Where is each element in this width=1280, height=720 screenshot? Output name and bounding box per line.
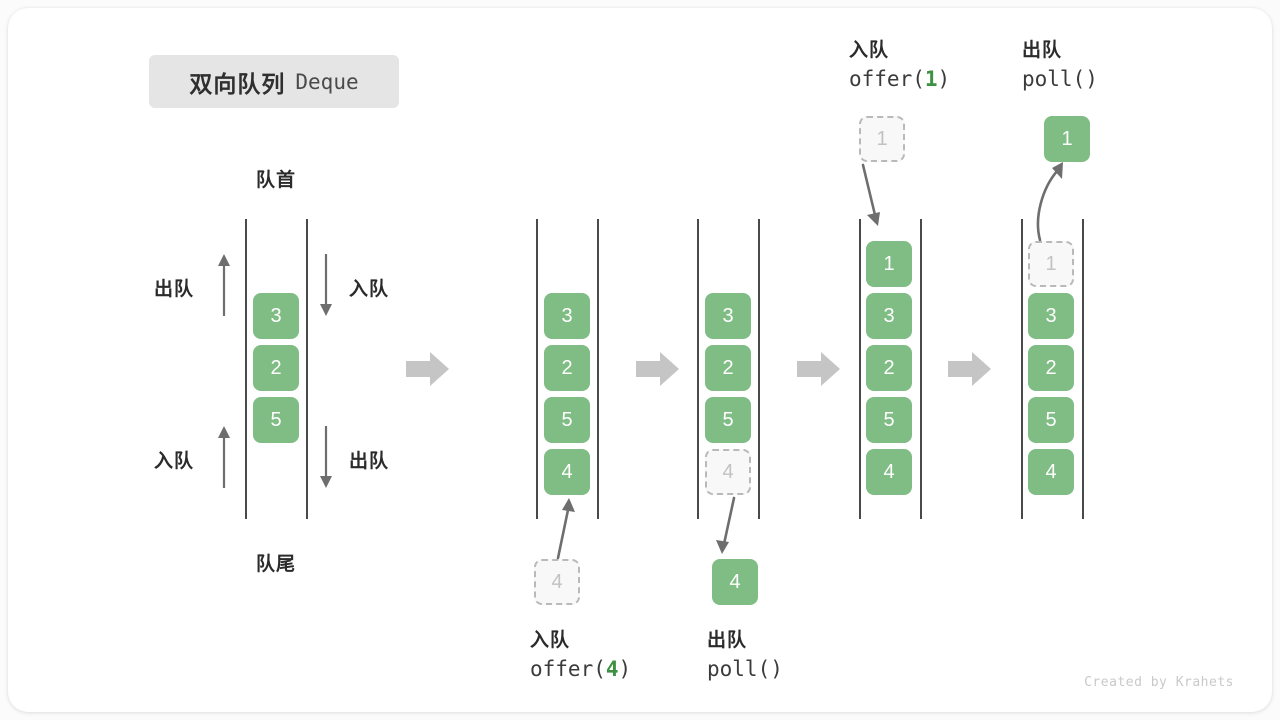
flow-arrow-icon — [406, 350, 450, 388]
panel4-op-cn: 入队 — [849, 38, 950, 65]
diagram-card: 双向队列 Deque 队首 队尾 出队 入队 入队 出队 3 — [8, 8, 1272, 712]
panel4-cell: 3 — [866, 293, 912, 339]
panel1-rail-right — [306, 219, 308, 519]
panel5-op-close: ) — [1085, 67, 1098, 91]
panel4-cell: 1 — [866, 241, 912, 287]
down-arrow-icon — [317, 252, 335, 318]
panel3-ghost-cell: 4 — [705, 449, 751, 495]
panel3-cell: 2 — [705, 345, 751, 391]
panel3-cell: 3 — [705, 293, 751, 339]
panel1-right-bottom-label: 出队 — [349, 446, 389, 473]
panel5-cell: 4 — [1028, 449, 1074, 495]
panel3-op-cn: 出队 — [707, 628, 783, 655]
panel3-rail-left — [697, 219, 699, 519]
up-arrow-icon — [215, 424, 233, 490]
title-badge: 双向队列 Deque — [149, 55, 399, 108]
panel5-cell: 3 — [1028, 293, 1074, 339]
panel2-rail-right — [597, 219, 599, 519]
panel1-cell: 5 — [253, 397, 299, 443]
panel2-cell: 2 — [544, 345, 590, 391]
panel1-left-top-label: 出队 — [154, 274, 194, 301]
panel5-ghost-cell: 1 — [1028, 241, 1074, 287]
panel2-ghost-cell: 4 — [534, 559, 580, 605]
panel4-op-code: offer(1) — [849, 65, 950, 95]
panel4-rail-right — [920, 219, 922, 519]
panel2-op-code: offer(4) — [530, 655, 631, 685]
panel2-op-fn: offer( — [530, 657, 606, 681]
panel5-op-cn: 出队 — [1022, 38, 1098, 65]
panel4-cell: 2 — [866, 345, 912, 391]
title-en: Deque — [295, 70, 358, 94]
panel3-op-code: poll() — [707, 655, 783, 685]
dequeue-motion-arrow-icon — [708, 496, 752, 558]
panel4-op-fn: offer( — [849, 67, 925, 91]
panel2-cell: 5 — [544, 397, 590, 443]
panel1-left-bottom-label: 入队 — [154, 446, 194, 473]
panel4-rail-left — [859, 219, 861, 519]
panel4-op-arg: 1 — [925, 67, 938, 91]
panel2-op-cn: 入队 — [530, 628, 631, 655]
panel4-op-label: 入队 offer(1) — [849, 38, 950, 95]
panel5-op-code: poll() — [1022, 65, 1098, 95]
panel2-cell: 4 — [544, 449, 590, 495]
title-cn: 双向队列 — [189, 65, 285, 99]
panel4-cell: 4 — [866, 449, 912, 495]
panel5-op-label: 出队 poll() — [1022, 38, 1098, 95]
panel2-rail-left — [536, 219, 538, 519]
panel5-rail-left — [1021, 219, 1023, 519]
panel2-cell: 3 — [544, 293, 590, 339]
panel1-front-label: 队首 — [245, 165, 307, 192]
flow-arrow-icon — [636, 350, 680, 388]
panel3-rail-right — [758, 219, 760, 519]
panel3-op-close: ) — [770, 657, 783, 681]
diagram-canvas: 双向队列 Deque 队首 队尾 出队 入队 入队 出队 3 — [0, 0, 1280, 720]
down-arrow-icon — [317, 424, 335, 490]
panel3-op-label: 出队 poll() — [707, 628, 783, 685]
flow-arrow-icon — [797, 350, 841, 388]
panel3-popped-cell: 4 — [712, 559, 758, 605]
panel4-op-close: ) — [938, 67, 951, 91]
panel3-op-fn: poll( — [707, 657, 770, 681]
panel4-cell: 5 — [866, 397, 912, 443]
panel5-cell: 2 — [1028, 345, 1074, 391]
panel4-ghost-cell: 1 — [859, 116, 905, 162]
up-arrow-icon — [215, 252, 233, 318]
panel2-op-close: ) — [619, 657, 632, 681]
panel1-cell: 3 — [253, 293, 299, 339]
flow-arrow-icon — [948, 350, 992, 388]
panel1-cell: 2 — [253, 345, 299, 391]
panel5-op-fn: poll( — [1022, 67, 1085, 91]
panel5-popped-cell: 1 — [1044, 116, 1090, 162]
panel3-cell: 5 — [705, 397, 751, 443]
panel1-rail-left — [245, 219, 247, 519]
enqueue-motion-arrow-icon — [544, 494, 584, 562]
panel2-op-label: 入队 offer(4) — [530, 628, 631, 685]
panel5-cell: 5 — [1028, 397, 1074, 443]
dequeue-motion-arrow-icon — [1018, 160, 1070, 242]
panel1-rear-label: 队尾 — [245, 549, 307, 576]
panel1-right-top-label: 入队 — [349, 274, 389, 301]
panel2-op-arg: 4 — [606, 657, 619, 681]
credit-text: Created by Krahets — [1084, 675, 1234, 690]
panel5-rail-right — [1082, 219, 1084, 519]
